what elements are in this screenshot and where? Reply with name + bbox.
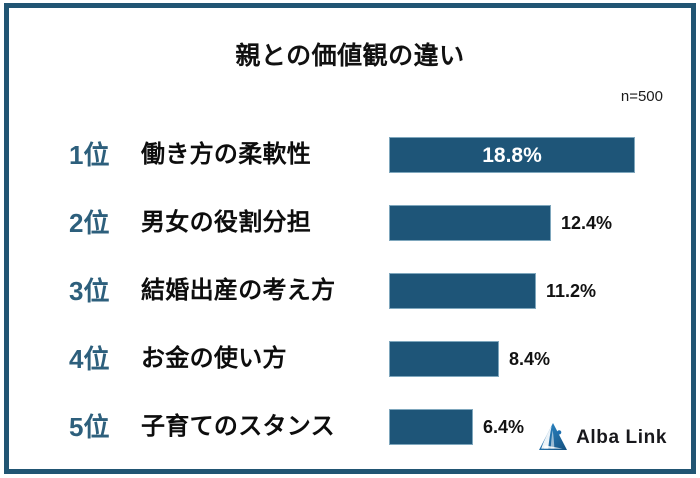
bar-track: 8.4% <box>389 341 681 377</box>
bar <box>389 409 473 445</box>
page-title: 親との価値観の違い <box>9 44 691 69</box>
infographic-canvas: 親との価値観の違い n=500 1位 働き方の柔軟性 18.8% 2位 男女の役… <box>0 0 700 478</box>
category-label: 働き方の柔軟性 <box>141 143 311 167</box>
bar <box>389 341 499 377</box>
sail-logo-icon <box>538 423 568 451</box>
bar <box>389 273 536 309</box>
brand-name: Alba Link <box>576 428 667 447</box>
category-label: 結婚出産の考え方 <box>141 279 335 303</box>
category-label: お金の使い方 <box>141 347 287 371</box>
brand-logo: Alba Link <box>538 423 667 451</box>
bar-track: 12.4% <box>389 205 681 241</box>
rank-label: 2位 <box>69 210 109 236</box>
sample-size-label: n=500 <box>621 89 663 104</box>
rank-label: 4位 <box>69 346 109 372</box>
list-item: 1位 働き方の柔軟性 18.8% <box>9 121 691 189</box>
bar-value-label: 6.4% <box>483 409 524 445</box>
bar-value-label: 8.4% <box>509 341 550 377</box>
bar-value-label: 12.4% <box>561 205 612 241</box>
ranking-list: 1位 働き方の柔軟性 18.8% 2位 男女の役割分担 12.4% 3位 結婚 <box>9 121 691 461</box>
list-item: 4位 お金の使い方 8.4% <box>9 325 691 393</box>
bar-track: 18.8% <box>389 137 681 173</box>
rank-label: 5位 <box>69 414 109 440</box>
rank-label: 1位 <box>69 142 109 168</box>
bar: 18.8% <box>389 137 635 173</box>
bar <box>389 205 551 241</box>
category-label: 子育てのスタンス <box>141 415 335 439</box>
list-item: 2位 男女の役割分担 12.4% <box>9 189 691 257</box>
category-label: 男女の役割分担 <box>141 211 311 235</box>
bar-value-label: 11.2% <box>546 273 596 309</box>
rank-label: 3位 <box>69 278 109 304</box>
bar-track: 11.2% <box>389 273 681 309</box>
list-item: 3位 結婚出産の考え方 11.2% <box>9 257 691 325</box>
bar-value-label: 18.8% <box>390 138 634 174</box>
chart-frame: 親との価値観の違い n=500 1位 働き方の柔軟性 18.8% 2位 男女の役… <box>4 3 696 474</box>
